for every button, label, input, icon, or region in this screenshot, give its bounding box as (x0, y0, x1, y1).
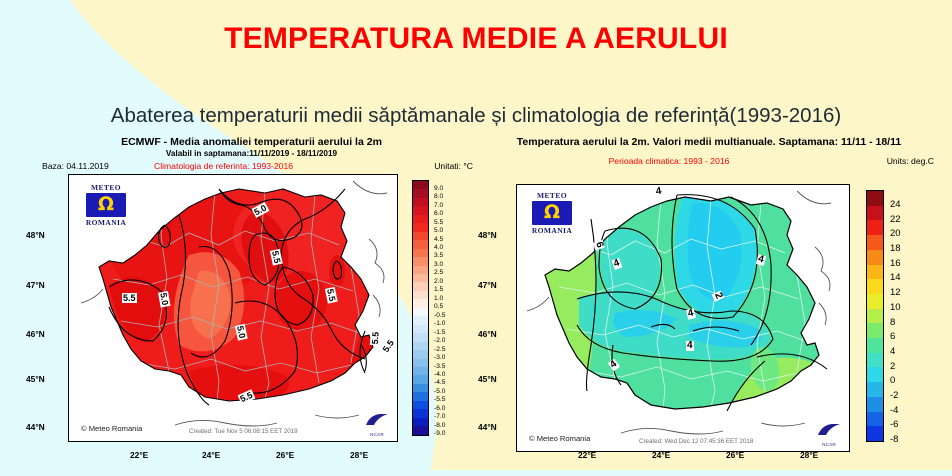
colorbar-tick-label: 1.5 (434, 286, 443, 293)
page-title: TEMPERATURA MEDIE A AERULUI (0, 22, 952, 56)
colorbar-segment (413, 257, 428, 265)
colorbar-segment (413, 409, 428, 417)
ncar-logo: NCAR (363, 412, 391, 437)
colorbar-segment (867, 250, 883, 265)
logo-bottom-text: ROMANIA (77, 218, 135, 227)
meteo-romania-logo: METEO Ω ROMANIA (523, 191, 581, 235)
climatology-colorbar: 242220181614121086420-2-4-6-8 (866, 190, 884, 442)
colorbar-tick-label: 1.0 (434, 295, 443, 302)
colorbar-segment (867, 279, 883, 294)
logo-mark-icon: Ω (532, 201, 572, 225)
colorbar-tick-label: 12 (890, 287, 901, 298)
anomaly-ytick-45: 45°N (26, 374, 45, 384)
colorbar-tick-label: 0.5 (434, 303, 443, 310)
colorbar-tick-label: 4.0 (434, 244, 443, 251)
colorbar-tick-label: 7.0 (434, 202, 443, 209)
anomaly-climatology-note: Climatologia de referinta: 1993-2016 (0, 161, 451, 171)
colorbar-segment (413, 308, 428, 316)
climatology-ytick-45: 45°N (478, 374, 497, 384)
logo-mark-icon: Ω (86, 193, 126, 217)
anomaly-map-frame[interactable]: 5.0 5.5 5.5 5.0 5.5 5.0 5.5 5.5 5.5 METE… (68, 174, 398, 442)
colorbar-tick-label: -6 (890, 419, 898, 430)
colorbar-segment (413, 426, 428, 434)
colorbar-segment (867, 382, 883, 397)
ncar-label: NCAR (363, 432, 391, 437)
colorbar-tick-label: 2.5 (434, 269, 443, 276)
colorbar-segment (413, 240, 428, 248)
colorbar-tick-label: -9.0 (434, 430, 445, 437)
colorbar-tick-label: -2.0 (434, 337, 445, 344)
colorbar-tick-label: 18 (890, 243, 901, 254)
climatology-ytick-46: 46°N (478, 329, 497, 339)
colorbar-tick-label: 4.5 (434, 236, 443, 243)
colorbar-tick-label: -5.5 (434, 396, 445, 403)
colorbar-tick-label: 16 (890, 258, 901, 269)
colorbar-segment (867, 426, 883, 441)
anomaly-xtick-26: 26°E (276, 450, 294, 460)
colorbar-tick-label: 22 (890, 214, 901, 225)
anomaly-contour-label: 5.5 (122, 293, 137, 303)
colorbar-segment (413, 375, 428, 383)
colorbar-segment (867, 206, 883, 221)
colorbar-segment (867, 397, 883, 412)
colorbar-segment (413, 198, 428, 206)
colorbar-tick-label: 24 (890, 199, 901, 210)
colorbar-tick-label: 5.0 (434, 227, 443, 234)
colorbar-tick-label: 3.5 (434, 252, 443, 259)
climatology-panel-title: Temperatura aerului la 2m. Valori medii … (478, 136, 940, 148)
climatology-map-panel[interactable]: Temperatura aerului la 2m. Valori medii … (478, 136, 940, 466)
colorbar-tick-label: 2.0 (434, 278, 443, 285)
colorbar-tick-label: 8.0 (434, 193, 443, 200)
colorbar-segment (413, 392, 428, 400)
colorbar-segment (413, 333, 428, 341)
climatology-created-stamp: Created: Wed Dec 12 07:45:36 EET 2018 (639, 438, 753, 445)
colorbar-segment (413, 325, 428, 333)
logo-bottom-text: ROMANIA (523, 226, 581, 235)
anomaly-map-panel[interactable]: ECMWF - Media anomaliei temperaturii aer… (24, 136, 479, 466)
climatology-ytick-47: 47°N (478, 280, 497, 290)
colorbar-segment (867, 294, 883, 309)
colorbar-tick-label: 9.0 (434, 185, 443, 192)
colorbar-tick-label: 2 (890, 361, 895, 372)
colorbar-tick-label: 5.5 (434, 219, 443, 226)
anomaly-panel-subtitle: Valabil in saptamana:11/11/2019 - 18/11/… (24, 148, 479, 159)
colorbar-tick-label: -1.0 (434, 320, 445, 327)
colorbar-segment (413, 350, 428, 358)
colorbar-tick-label: 0 (890, 375, 895, 386)
colorbar-tick-label: -6.0 (434, 405, 445, 412)
climatology-contour-label: 4 (654, 186, 663, 197)
colorbar-tick-label: 10 (890, 302, 901, 313)
page-subtitle: Abaterea temperaturii medii săptămanale … (0, 104, 952, 128)
ncar-label: NCAR (815, 442, 843, 447)
colorbar-segment (867, 309, 883, 324)
colorbar-tick-label: 8 (890, 317, 895, 328)
colorbar-tick-label: -0.5 (434, 312, 445, 319)
meteo-romania-logo: METEO Ω ROMANIA (77, 183, 135, 227)
climatology-contour-label: 4 (686, 341, 694, 351)
colorbar-tick-label: -4.0 (434, 371, 445, 378)
ncar-mark-icon (364, 412, 390, 427)
colorbar-tick-label: 4 (890, 346, 895, 357)
colorbar-tick-label: -2 (890, 390, 898, 401)
colorbar-segment (413, 359, 428, 367)
climatology-credit: © Meteo Romania (529, 434, 590, 443)
colorbar-tick-label: -1.5 (434, 329, 445, 336)
logo-top-text: METEO (77, 183, 135, 192)
colorbar-segment (413, 249, 428, 257)
colorbar-segment (413, 232, 428, 240)
colorbar-tick-label: 6 (890, 331, 895, 342)
colorbar-segment (413, 418, 428, 426)
colorbar-tick-label: -5.0 (434, 388, 445, 395)
ncar-logo: NCAR (815, 422, 843, 447)
anomaly-panel-header: ECMWF - Media anomaliei temperaturii aer… (24, 136, 479, 174)
anomaly-created-stamp: Created: Tue Nov 5 06:08:15 EET 2019 (189, 428, 298, 435)
colorbar-segment (867, 220, 883, 235)
colorbar-segment (413, 266, 428, 274)
colorbar-segment (413, 223, 428, 231)
ncar-mark-icon (816, 422, 842, 437)
colorbar-segment (413, 282, 428, 290)
colorbar-segment (867, 367, 883, 382)
climatology-climatology-note: Perioada climatica: 1993 - 2016 (438, 156, 900, 166)
anomaly-ytick-44: 44°N (26, 422, 45, 432)
colorbar-segment (867, 338, 883, 353)
colorbar-segment (413, 367, 428, 375)
colorbar-segment (413, 316, 428, 324)
colorbar-segment (867, 412, 883, 427)
colorbar-segment (867, 191, 883, 206)
colorbar-segment (413, 215, 428, 223)
anomaly-ytick-47: 47°N (26, 280, 45, 290)
colorbar-tick-label: -3.0 (434, 354, 445, 361)
climatology-ytick-48: 48°N (478, 230, 497, 240)
climatology-ytick-44: 44°N (478, 422, 497, 432)
colorbar-segment (413, 206, 428, 214)
colorbar-segment (867, 323, 883, 338)
anomaly-xtick-22: 22°E (130, 450, 148, 460)
colorbar-segment (413, 342, 428, 350)
colorbar-segment (413, 181, 428, 189)
colorbar-segment (413, 189, 428, 197)
anomaly-ytick-46: 46°N (26, 329, 45, 339)
colorbar-tick-label: -4.5 (434, 379, 445, 386)
anomaly-xtick-24: 24°E (202, 450, 220, 460)
colorbar-segment (867, 235, 883, 250)
anomaly-credit: © Meteo Romania (81, 424, 142, 433)
colorbar-tick-label: 20 (890, 228, 901, 239)
colorbar-segment (413, 384, 428, 392)
colorbar-tick-label: 14 (890, 272, 901, 283)
climatology-map-frame[interactable]: 6 4 4 2 4 4 4 4 METEO Ω ROMANIA © Meteo … (516, 184, 850, 452)
colorbar-segment (413, 401, 428, 409)
colorbar-segment (413, 299, 428, 307)
climatology-panel-header: Temperatura aerului la 2m. Valori medii … (478, 136, 940, 174)
colorbar-tick-label: -3.5 (434, 363, 445, 370)
anomaly-xtick-28: 28°E (350, 450, 368, 460)
anomaly-ytick-48: 48°N (26, 230, 45, 240)
climatology-map-area[interactable]: 48°N 47°N 46°N 45°N 44°N 22°E 24°E 26°E … (478, 184, 940, 476)
logo-top-text: METEO (523, 191, 581, 200)
colorbar-tick-label: -8 (890, 434, 898, 445)
colorbar-segment (413, 291, 428, 299)
colorbar-segment (867, 353, 883, 368)
colorbar-tick-label: -2.5 (434, 346, 445, 353)
anomaly-contour-label: 5.5 (370, 330, 381, 345)
colorbar-tick-label: 6.0 (434, 210, 443, 217)
colorbar-segment (867, 265, 883, 280)
colorbar-tick-label: -8.0 (434, 422, 445, 429)
colorbar-tick-label: 3.0 (434, 261, 443, 268)
colorbar-tick-label: -7.0 (434, 413, 445, 420)
colorbar-tick-label: -4 (890, 405, 898, 416)
colorbar-segment (413, 274, 428, 282)
anomaly-colorbar: 9.08.07.06.05.55.04.54.03.53.02.52.01.51… (412, 180, 429, 436)
anomaly-map-area[interactable]: 48°N 47°N 46°N 45°N 44°N 22°E 24°E 26°E … (24, 174, 479, 466)
anomaly-panel-title: ECMWF - Media anomaliei temperaturii aer… (24, 136, 479, 148)
climatology-units-label: Units: deg.C (887, 156, 934, 166)
